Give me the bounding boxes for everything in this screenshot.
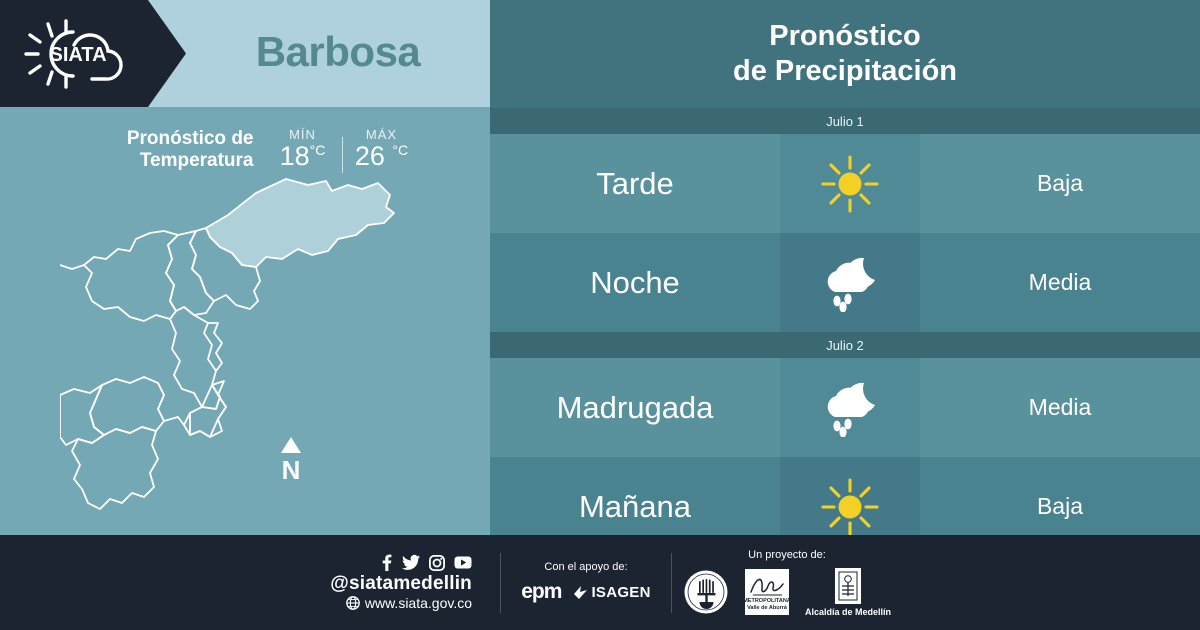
forecast-title-line1: Pronóstico [769, 19, 920, 54]
forecast-panel: Pronóstico de Precipitación Julio 1 Tard… [490, 0, 1200, 535]
forecast-header: Pronóstico de Precipitación [490, 0, 1200, 108]
temperature-max: MÁX 26 °C [349, 127, 415, 170]
project-caption: Un proyecto de: [748, 549, 826, 561]
period-cell: Madrugada [490, 358, 780, 457]
page-title: Barbosa [186, 0, 490, 107]
temperature-title-line2: Temperatura [76, 150, 254, 172]
alcaldia-emblem-icon [838, 571, 858, 601]
temperature-title-line1: Pronóstico de [76, 128, 254, 150]
temperature-min: MÍN 18°C [270, 127, 336, 170]
table-row[interactable]: Madrugada Media [490, 358, 1200, 457]
table-row[interactable]: Tarde [490, 134, 1200, 233]
probability-label: Media [1029, 269, 1092, 296]
period-cell: Tarde [490, 134, 780, 233]
isagen-mark-icon [573, 585, 588, 600]
youtube-icon[interactable] [454, 556, 472, 569]
area-line1: METROPOLITANA [743, 598, 791, 605]
alcaldia-shield-icon [835, 568, 861, 604]
weather-icon-cell [780, 134, 920, 233]
temperature-max-label: MÁX [366, 127, 397, 142]
date-band-julio-2: Julio 2 [490, 332, 1200, 358]
date-band-julio-1: Julio 1 [490, 108, 1200, 134]
forecast-title-line2: de Precipitación [733, 54, 957, 89]
probability-cell: Media [920, 358, 1200, 457]
map-region-barbosa [206, 179, 394, 267]
globe-icon [346, 596, 360, 610]
map-region-la-estrella [60, 385, 104, 445]
siata-logo-text: SIATA [49, 44, 106, 66]
footer: @siatamedellin www.siata.gov.co Con el a… [0, 535, 1200, 630]
moon-rain-icon [817, 379, 883, 437]
social-icon-row [379, 554, 472, 571]
period-label: Mañana [579, 489, 691, 525]
weather-icon-cell [780, 358, 920, 457]
probability-label: Baja [1037, 493, 1083, 520]
probability-cell: Media [920, 233, 1200, 332]
temperature-divider [342, 137, 343, 173]
alcaldia-medellin-logo: Alcaldía de Medellín [805, 568, 891, 617]
map-region-spur [208, 323, 222, 371]
footer-support: Con el apoyo de: epm ISAGEN [501, 561, 671, 604]
footer-social: @siatamedellin www.siata.gov.co [0, 554, 500, 611]
instagram-icon[interactable] [429, 555, 445, 571]
sun-cloud-icon: SIATA [18, 16, 146, 92]
period-label: Madrugada [557, 390, 714, 426]
footer-project: Un proyecto de: [672, 549, 902, 617]
temperature-max-value: 26 °C [355, 143, 408, 170]
map-region-bello [84, 231, 178, 321]
map-region-copacabana [166, 231, 214, 315]
temperature-min-label: MÍN [289, 127, 316, 142]
aburra-valley-map [60, 173, 440, 529]
temperature-summary: Pronóstico de Temperatura MÍN 18°C MÁX 2… [0, 119, 490, 181]
siata-logo-flag: SIATA [0, 0, 186, 107]
left-panel: SIATA Barbosa Pronóstico de Temperatura … [0, 0, 490, 535]
alcaldia-label: Alcaldía de Medellín [805, 607, 891, 617]
area-line2: Valle de Aburrá [743, 605, 791, 612]
forecast-table: Julio 1 Tarde [490, 108, 1200, 556]
north-arrow-icon: N [278, 435, 304, 483]
sun-icon [821, 478, 879, 536]
date-label: Julio 1 [826, 114, 864, 129]
unal-seal-logo [683, 569, 729, 615]
table-row[interactable]: Noche Media [490, 233, 1200, 332]
temperature-min-value: 18°C [280, 143, 326, 170]
moon-rain-icon [817, 254, 883, 312]
sun-icon [821, 155, 879, 213]
probability-label: Baja [1037, 170, 1083, 197]
epm-logo: epm [521, 580, 561, 604]
facebook-icon[interactable] [379, 554, 393, 571]
period-label: Noche [590, 265, 680, 301]
social-handle[interactable]: @siatamedellin [330, 573, 472, 595]
area-metropolitana-logo: METROPOLITANA Valle de Aburrá [745, 569, 789, 615]
map-region-medellin-north [60, 265, 84, 269]
support-caption: Con el apoyo de: [544, 561, 627, 573]
map-region-caldas [72, 427, 158, 509]
infographic-root: SIATA Barbosa Pronóstico de Temperatura … [0, 0, 1200, 630]
date-label: Julio 2 [826, 338, 864, 353]
period-label: Tarde [596, 166, 674, 202]
map-panel: Pronóstico de Temperatura MÍN 18°C MÁX 2… [0, 107, 490, 535]
temperature-title: Pronóstico de Temperatura [76, 128, 254, 173]
website-line[interactable]: www.siata.gov.co [346, 595, 472, 611]
isagen-logo: ISAGEN [573, 584, 650, 601]
area-script-icon [749, 572, 785, 598]
probability-cell: Baja [920, 134, 1200, 233]
website-url: www.siata.gov.co [365, 595, 472, 611]
period-cell: Noche [490, 233, 780, 332]
probability-label: Media [1029, 394, 1092, 421]
north-label: N [282, 455, 301, 483]
map-region-sabaneta [158, 383, 226, 437]
weather-icon-cell [780, 233, 920, 332]
twitter-icon[interactable] [402, 554, 420, 571]
